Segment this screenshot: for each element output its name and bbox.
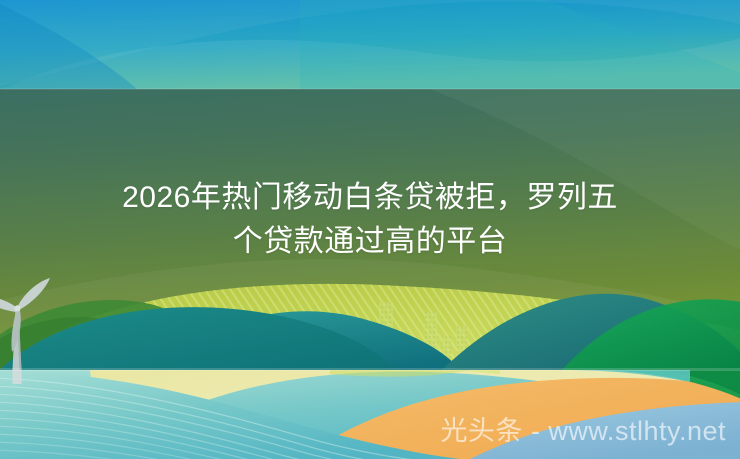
article-cover-image: 2026年热门移动白条贷被拒，罗列五 个贷款通过高的平台 光头条 - www.s… [0, 0, 740, 459]
page-title: 2026年热门移动白条贷被拒，罗列五 个贷款通过高的平台 [0, 176, 740, 264]
water-band [0, 364, 740, 459]
